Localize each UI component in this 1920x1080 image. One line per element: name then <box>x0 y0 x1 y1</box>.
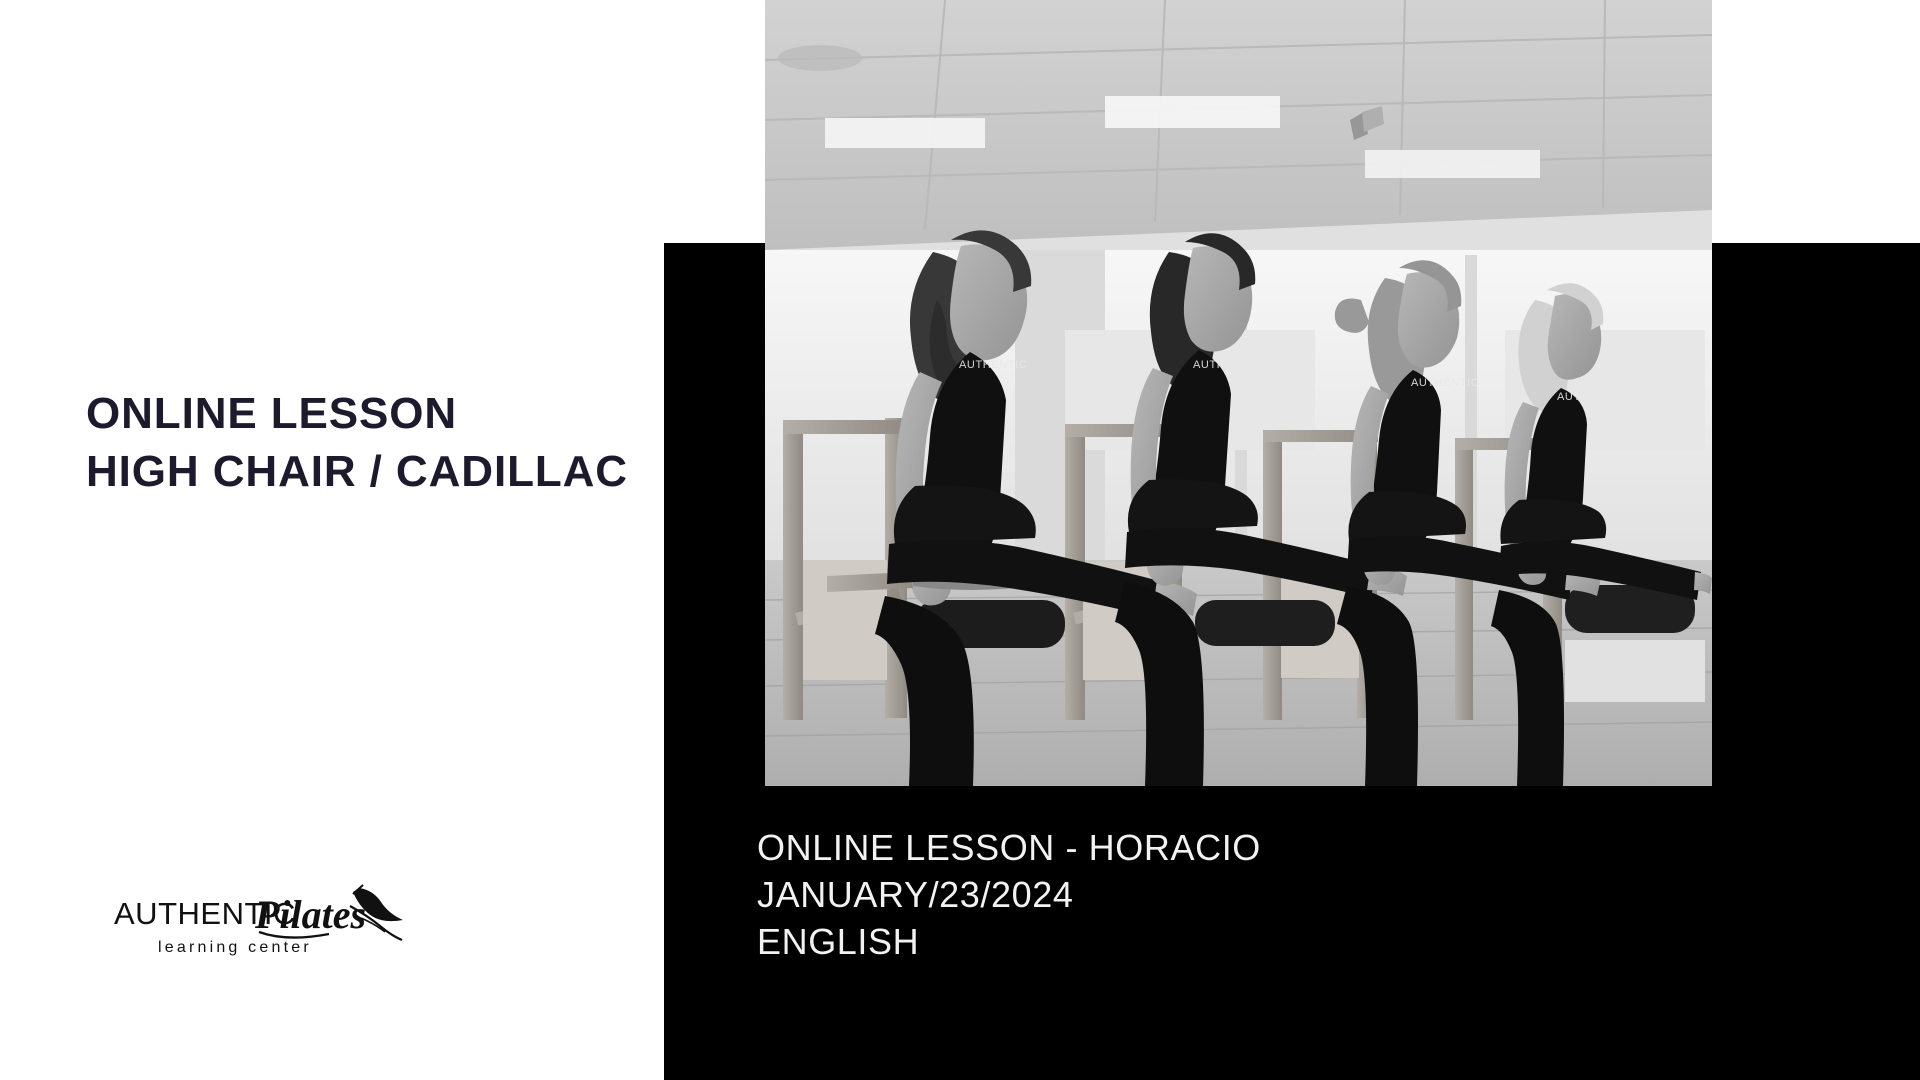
title-line-2: HIGH CHAIR / CADILLAC <box>86 443 666 501</box>
caption-line-language: ENGLISH <box>757 918 1457 965</box>
logo-tagline: learning center <box>158 939 312 956</box>
slide-canvas: AUTHENTIC AUTHENTIC AUTHENTIC AUTHENTIC … <box>0 0 1920 1080</box>
logo-word-pilates: Pilates <box>254 892 366 938</box>
caption-line-date: JANUARY/23/2024 <box>757 871 1457 918</box>
page-title: ONLINE LESSON HIGH CHAIR / CADILLAC <box>86 385 666 501</box>
photo-illustration: AUTHENTIC AUTHENTIC AUTHENTIC AUTHENTIC <box>765 0 1712 786</box>
caption-line-lesson: ONLINE LESSON - HORACIO <box>757 824 1457 871</box>
lesson-photo: AUTHENTIC AUTHENTIC AUTHENTIC AUTHENTIC <box>765 0 1712 786</box>
lesson-caption: ONLINE LESSON - HORACIO JANUARY/23/2024 … <box>757 824 1457 965</box>
authentic-pilates-logo-icon: AUTHENTIC Pilates learning center <box>112 880 412 960</box>
brand-logo: AUTHENTIC Pilates learning center <box>112 880 412 960</box>
svg-text:Pilates: Pilates <box>254 892 366 937</box>
title-line-1: ONLINE LESSON <box>86 385 666 443</box>
